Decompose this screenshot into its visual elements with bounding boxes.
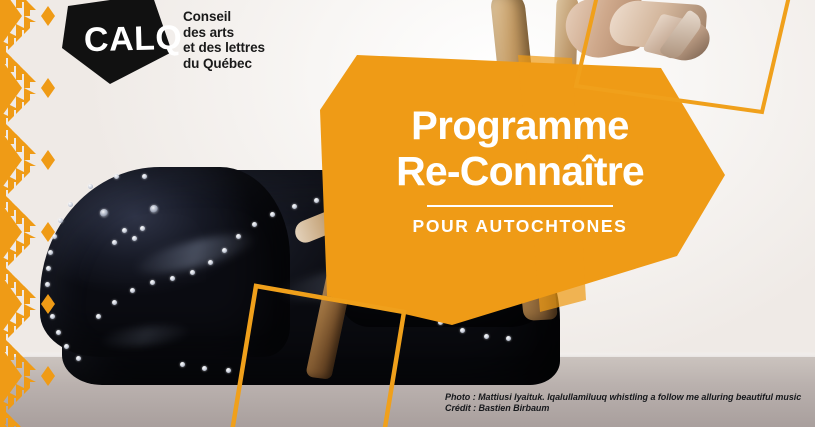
sculpture-inlay-dot: [460, 328, 465, 333]
sculpture-inlay-dot: [76, 356, 81, 361]
sculpture-inlay-dot: [130, 288, 135, 293]
pattern-motif: [0, 118, 55, 202]
calq-name-line-1: Conseil: [183, 9, 265, 25]
sculpture-inlay-dot: [150, 280, 155, 285]
sculpture-inlay-dot: [314, 198, 319, 203]
sculpture-inlay-dot: [340, 184, 345, 189]
sculpture-inlay-dot: [208, 260, 213, 265]
sculpture-inlay-dot: [190, 270, 195, 275]
calq-name-line-4: du Québec: [183, 56, 265, 72]
calq-logo-wordmark: CALQ: [84, 19, 183, 61]
sculpture-inlay-dot: [270, 212, 275, 217]
pattern-motif: [0, 190, 55, 274]
sculpture-inlay-dot: [292, 204, 297, 209]
pattern-motif: [0, 0, 55, 58]
sculpture-inlay-dot: [180, 362, 185, 367]
sculpture-inlay-dot: [222, 248, 227, 253]
sculpture-inlay-dot: [114, 174, 119, 179]
sculpture-inlay-dot: [506, 336, 511, 341]
sculpture-inlay-dot: [64, 344, 69, 349]
sculpture-inlay-dot: [132, 236, 137, 241]
sculpture-inlay-dot: [96, 314, 101, 319]
pattern-motif: [0, 46, 55, 130]
indigenous-border-pattern: [0, 0, 58, 427]
photo-credit-line-photo: Photo : Mattiusi Iyaituk. Iqalullamiluuq…: [445, 392, 801, 403]
pattern-motif: [0, 262, 55, 346]
calq-logo[interactable]: CALQ Conseil des arts et des lettres du …: [60, 0, 295, 92]
sculpture-inlay-dot: [484, 334, 489, 339]
sculpture-inlay-dot: [252, 222, 257, 227]
sculpture-inlay-dot: [438, 320, 443, 325]
sculpture-inlay-dot: [236, 234, 241, 239]
sculpture-inlay-dot: [88, 184, 93, 189]
calq-logo-name: Conseil des arts et des lettres du Québe…: [183, 9, 265, 71]
sculpture-inlay-dot: [112, 240, 117, 245]
sculpture-inlay-dot: [140, 226, 145, 231]
sculpture-inlay-dot: [150, 205, 158, 213]
sculpture-inlay-dot: [112, 300, 117, 305]
calq-program-banner: CALQ Conseil des arts et des lettres du …: [0, 0, 815, 427]
calq-name-line-2: des arts: [183, 25, 265, 41]
sculpture-inlay-dot: [58, 218, 63, 223]
banner-title-block: Programme Re-Connaître POUR AUTOCHTONES: [360, 104, 680, 237]
title-divider: [427, 205, 613, 207]
sculpture-inlay-dot: [336, 200, 341, 205]
title-line-1: Programme: [360, 104, 680, 148]
photo-credit: Photo : Mattiusi Iyaituk. Iqalullamiluuq…: [445, 392, 801, 415]
sculpture-inlay-dot: [170, 276, 175, 281]
title-line-2: Re-Connaître: [360, 148, 680, 194]
photo-credit-line-author: Crédit : Bastien Birbaum: [445, 403, 801, 414]
title-subtitle: POUR AUTOCHTONES: [360, 216, 680, 237]
sculpture-inlay-dot: [202, 366, 207, 371]
calq-name-line-3: et des lettres: [183, 40, 265, 56]
sculpture-inlay-dot: [122, 228, 127, 233]
sculpture-inlay-dot: [142, 174, 147, 179]
sculpture-inlay-dot: [226, 368, 231, 373]
sculpture-inlay-dot: [68, 202, 73, 207]
sculpture-inlay-dot: [100, 209, 108, 217]
pattern-motif: [0, 334, 55, 418]
